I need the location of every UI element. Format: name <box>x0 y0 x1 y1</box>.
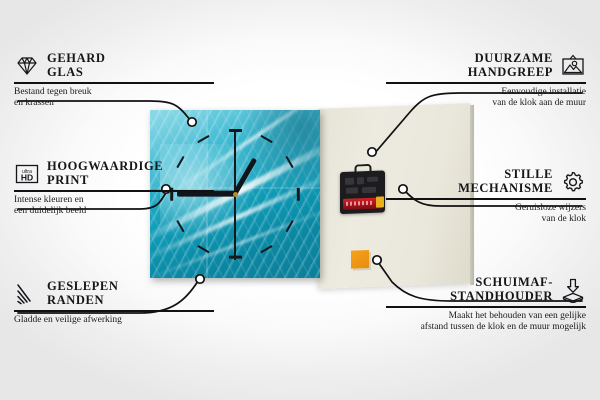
feature-header: DUURZAMEHANDGREEP <box>386 52 586 79</box>
feature-divider <box>386 306 586 308</box>
feature-gehard-glas[interactable]: GEHARDGLAS Bestand tegen breuken krassen <box>14 52 214 109</box>
feature-description: Bestand tegen breuken krassen <box>14 87 214 109</box>
endpoint-gehard-glas <box>188 118 196 126</box>
feature-description: Eenvoudige installatievan de klok aan de… <box>386 87 586 109</box>
beveled-edges-icon <box>14 281 40 307</box>
feature-header: GEHARDGLAS <box>14 52 214 79</box>
feature-title: SCHUIMAF-STANDHOUDER <box>450 276 553 303</box>
infographic-canvas: GEHARDGLAS Bestand tegen breuken krassen… <box>0 0 600 400</box>
feature-header: GESLEPENRANDEN <box>14 280 214 307</box>
feature-description: Maakt het behouden van een gelijkeafstan… <box>386 311 586 333</box>
feature-title: GEHARDGLAS <box>47 52 105 79</box>
feature-schuimafstandhouder[interactable]: SCHUIMAF-STANDHOUDER Maakt het behouden … <box>386 276 586 333</box>
spacer-arrow-icon <box>560 277 586 303</box>
feature-divider <box>14 82 214 84</box>
feature-description: Geruisloze wijzersvan de klok <box>386 203 586 225</box>
feature-stille-mechanisme[interactable]: STILLEMECHANISME Geruisloze wijzersvan d… <box>386 168 586 225</box>
feature-divider <box>386 82 586 84</box>
feature-title: DUURZAMEHANDGREEP <box>468 52 553 79</box>
feature-header: ultra HD HOOGWAARDIGEPRINT <box>14 160 214 187</box>
feature-header: STILLEMECHANISME <box>386 168 586 195</box>
feature-title: GESLEPENRANDEN <box>47 280 119 307</box>
feature-description: Intense kleuren eneen duidelijk beeld <box>14 195 214 217</box>
feature-title: STILLEMECHANISME <box>458 168 553 195</box>
gear-icon <box>560 169 586 195</box>
endpoint-handgreep <box>368 148 376 156</box>
feature-divider <box>386 198 586 200</box>
feature-divider <box>14 190 214 192</box>
svg-text:HD: HD <box>21 172 33 182</box>
feature-title: HOOGWAARDIGEPRINT <box>47 160 163 187</box>
feature-divider <box>14 310 214 312</box>
endpoint-spacer <box>373 256 381 264</box>
feature-header: SCHUIMAF-STANDHOUDER <box>386 276 586 303</box>
feature-hoogwaardige-print[interactable]: ultra HD HOOGWAARDIGEPRINT Intense kleur… <box>14 160 214 217</box>
feature-duurzame-handgreep[interactable]: DUURZAMEHANDGREEP Eenvoudige installatie… <box>386 52 586 109</box>
feature-description: Gladde en veilige afwerking <box>14 315 214 326</box>
feature-geslepen-randen[interactable]: GESLEPENRANDEN Gladde en veilige afwerki… <box>14 280 214 326</box>
ultra-hd-icon: ultra HD <box>14 161 40 187</box>
picture-frame-icon <box>560 53 586 79</box>
diamond-icon <box>14 53 40 79</box>
